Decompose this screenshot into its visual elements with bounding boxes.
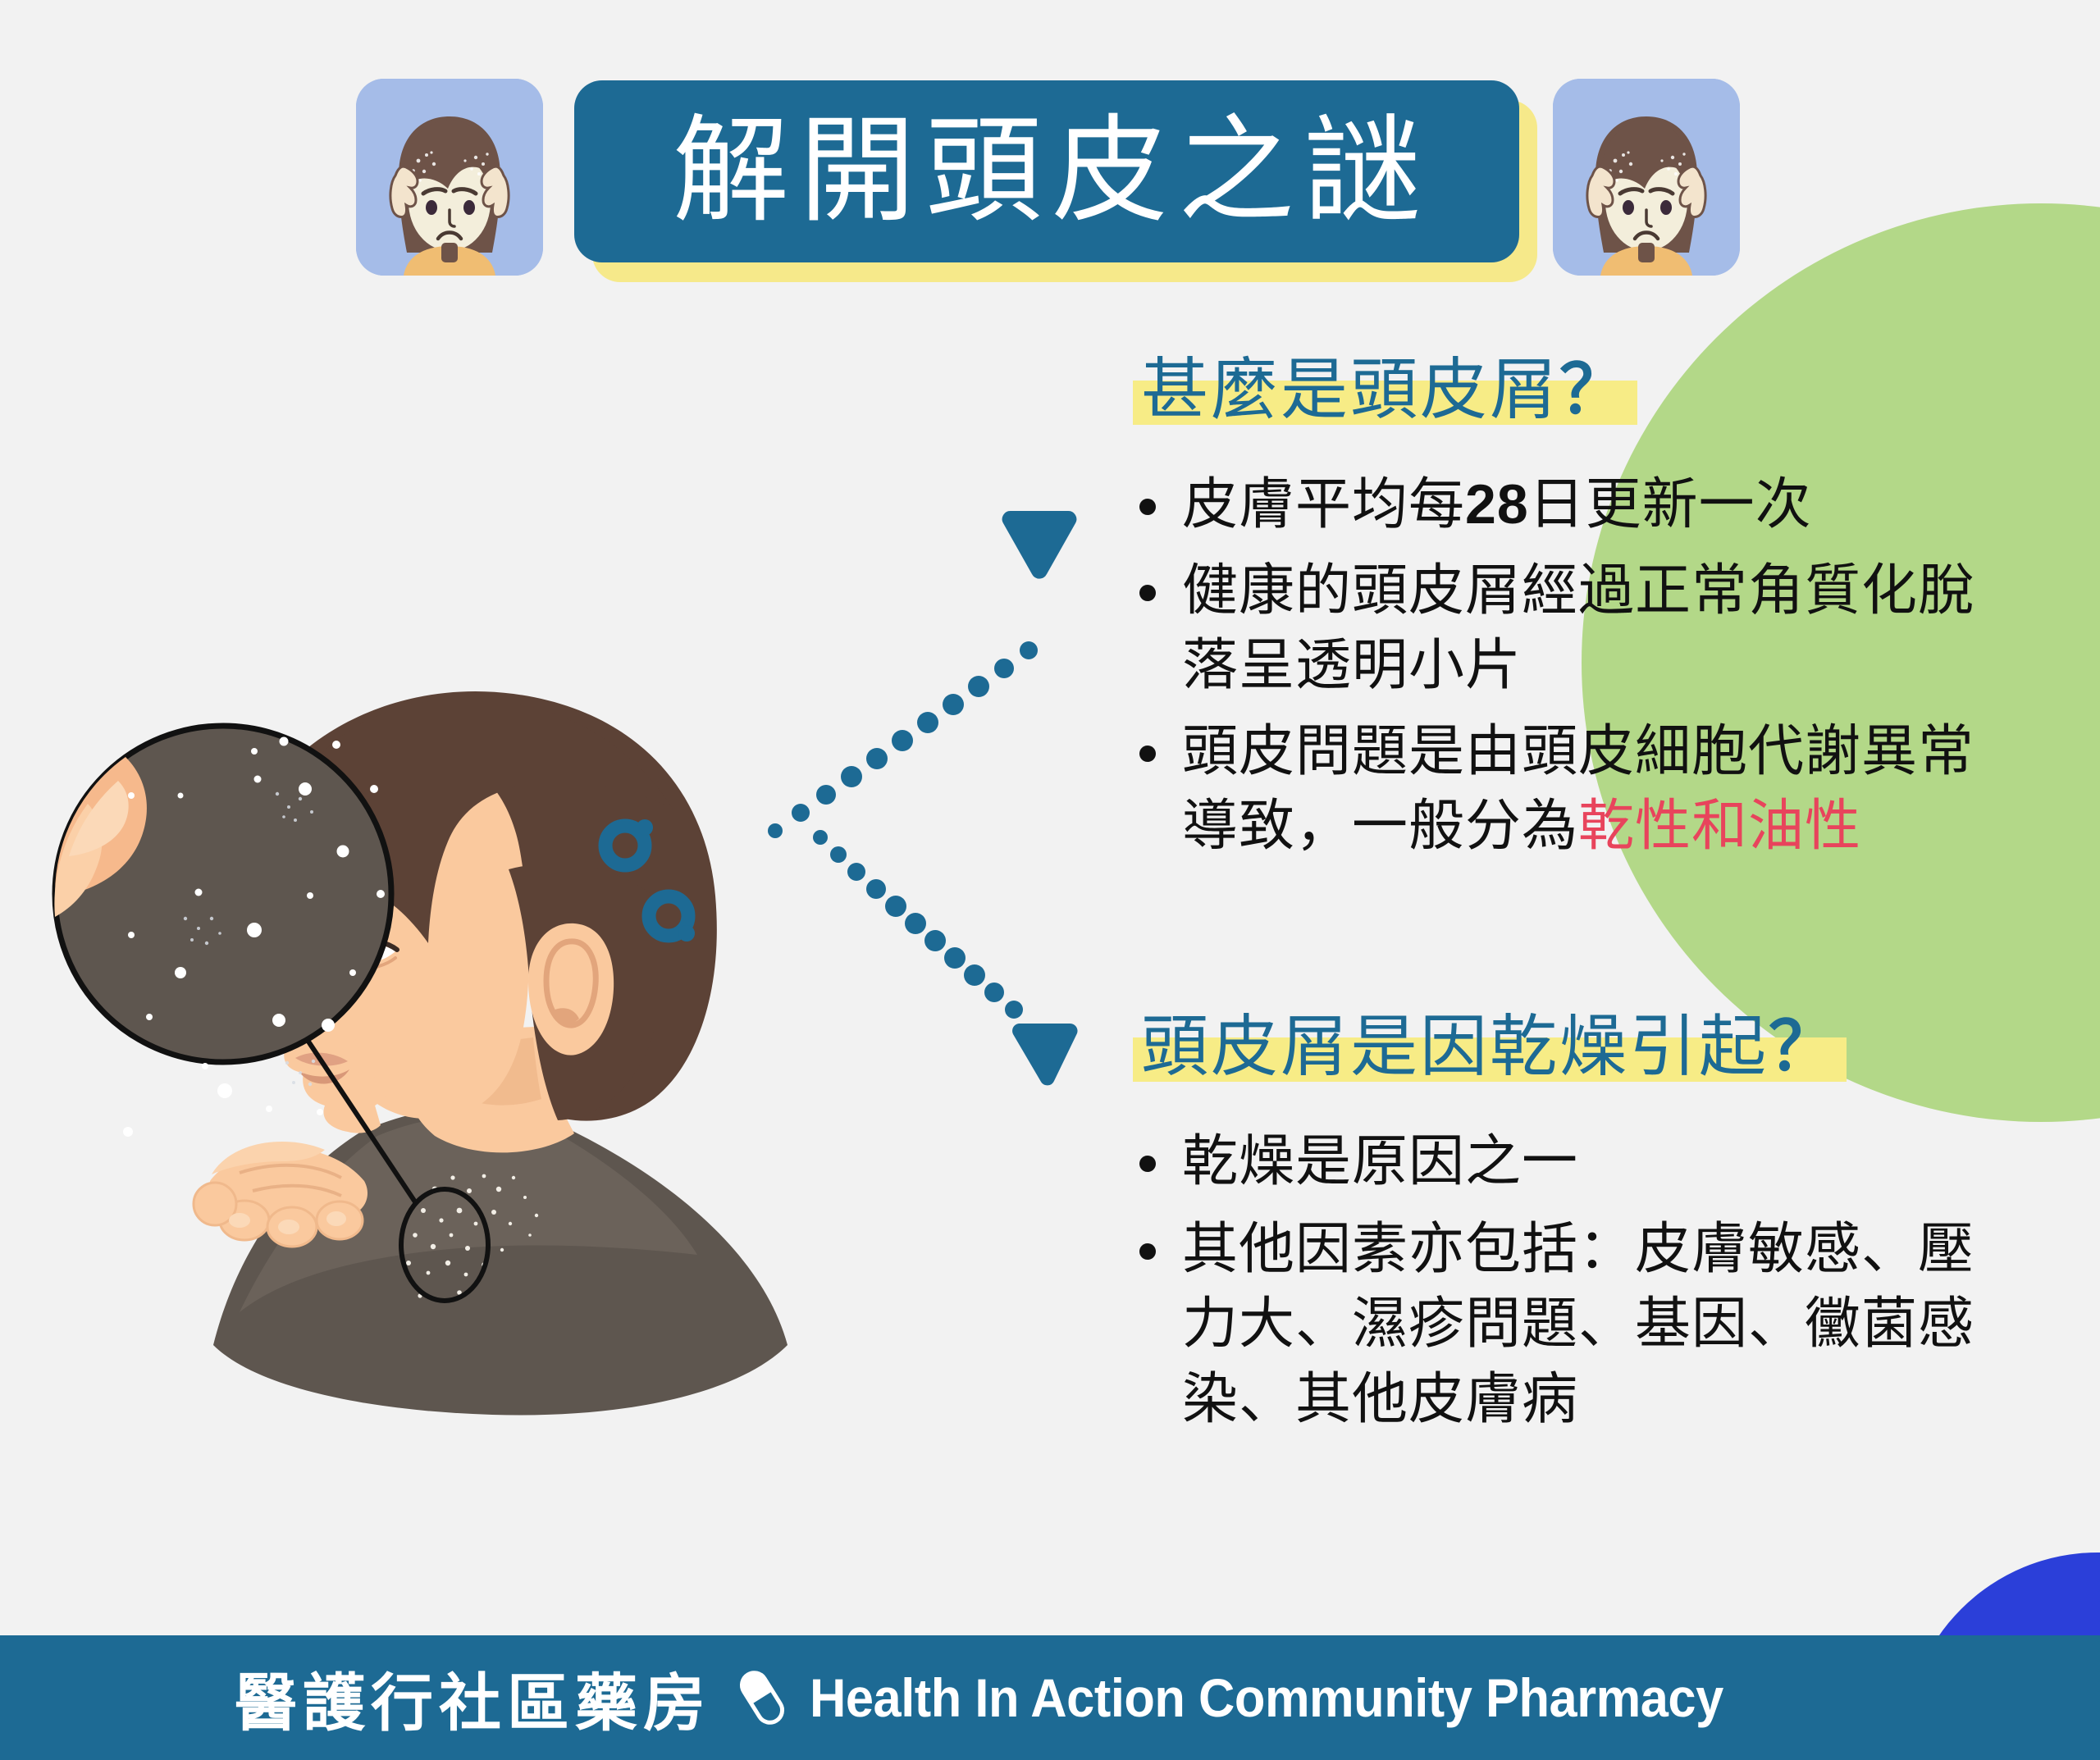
section-1-bullets: 皮膚平均每28日更新一次 健康的頭皮屑經過正常角質化脫落呈透明小片 頭皮問題是由… <box>1112 467 2030 864</box>
section-what-is-dandruff: 甚麼是頭皮屑？ 皮膚平均每28日更新一次 健康的頭皮屑經過正常角質化脫落呈透明小… <box>1112 353 2030 864</box>
section-1-heading-text: 甚麼是頭皮屑 <box>1141 353 1559 427</box>
section-2-bullets: 乾燥是原因之一 其他因素亦包括：皮膚敏感、壓力大、濕疹問題、基因、黴菌感染、其他… <box>1112 1124 2030 1436</box>
worried-woman-icon <box>356 79 543 276</box>
section-2-heading: 頭皮屑是因乾燥引起？ <box>1133 1010 1847 1087</box>
worried-woman-icon <box>1553 79 1740 276</box>
list-item: 其他因素亦包括：皮膚敏感、壓力大、濕疹問題、基因、黴菌感染、其他皮膚病 <box>1126 1212 2030 1436</box>
section-2-heading-mark: ？ <box>1769 1010 1838 1084</box>
list-item: 健康的頭皮屑經過正常角質化脫落呈透明小片 <box>1126 554 2030 703</box>
section-1-heading-mark: ？ <box>1559 353 1629 427</box>
pharmacy-name-en: Health In Action Community Pharmacy <box>810 1667 1723 1729</box>
footer-brand-bar: 醫護行社區藥房 Health In Action Community Pharm… <box>0 1635 2100 1760</box>
title-plate: 解開頭皮之謎 <box>574 80 1519 262</box>
section-dryness-cause: 頭皮屑是因乾燥引起？ 乾燥是原因之一 其他因素亦包括：皮膚敏感、壓力大、濕疹問題… <box>1112 1010 2030 1436</box>
list-item: 皮膚平均每28日更新一次 <box>1126 467 2030 542</box>
accent-text: 乾性和油性 <box>1578 795 1861 857</box>
list-item: 乾燥是原因之一 <box>1126 1124 2030 1199</box>
list-item: 頭皮問題是由頭皮細胞代謝異常導致，一般分為乾性和油性 <box>1126 714 2030 864</box>
header: 解開頭皮之謎 <box>0 0 2100 312</box>
main-illustration <box>49 525 1034 1493</box>
section-2-heading-text: 頭皮屑是因乾燥引起 <box>1141 1010 1769 1084</box>
avatar-thumbnail-right <box>1553 79 1740 276</box>
capsule-pill-icon <box>736 1666 788 1730</box>
page-title: 解開頭皮之謎 <box>663 113 1431 230</box>
infographic-poster: 解開頭皮之謎 <box>0 0 2100 1760</box>
section-1-heading: 甚麼是頭皮屑？ <box>1133 353 1637 430</box>
avatar-thumbnail-left <box>356 79 543 276</box>
pharmacy-name-zh: 醫護行社區藥房 <box>235 1653 711 1743</box>
content-column: 甚麼是頭皮屑？ 皮膚平均每28日更新一次 健康的頭皮屑經過正常角質化脫落呈透明小… <box>1112 353 2030 1450</box>
